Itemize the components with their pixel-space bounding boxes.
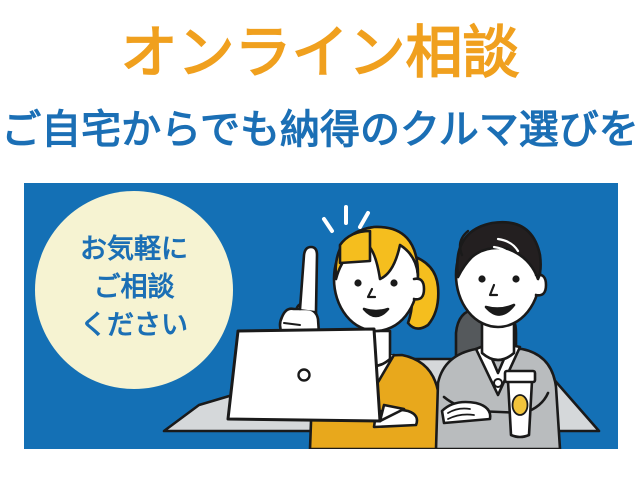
man-body: [436, 349, 560, 449]
man-neck: [482, 323, 514, 360]
consultation-badge: お気軽に ご相談 ください: [35, 191, 233, 389]
woman-eye-left: [354, 279, 361, 286]
sparkle-marks: [324, 207, 368, 231]
man-eye-left: [478, 275, 485, 282]
page-title: オンライン相談: [0, 22, 640, 84]
laptop-logo: [299, 370, 310, 381]
man-collar-button: [494, 379, 502, 387]
man-eye-right: [512, 275, 519, 282]
woman-index-finger: [300, 247, 317, 311]
coffee-cup-lid: [505, 371, 535, 382]
page-subtitle: ご自宅からでも納得のクルマ選びを: [0, 106, 640, 154]
online-consultation-banner: オンライン相談 ご自宅からでも納得のクルマ選びを: [0, 0, 640, 480]
woman-ear: [414, 279, 424, 300]
illustration-panel: お気軽に ご相談 ください: [24, 183, 618, 449]
woman-bangs: [340, 231, 370, 263]
woman-eye-right: [390, 279, 397, 286]
coffee-cup-logo: [513, 395, 528, 415]
badge-label: お気軽に ご相談 ください: [35, 231, 233, 345]
